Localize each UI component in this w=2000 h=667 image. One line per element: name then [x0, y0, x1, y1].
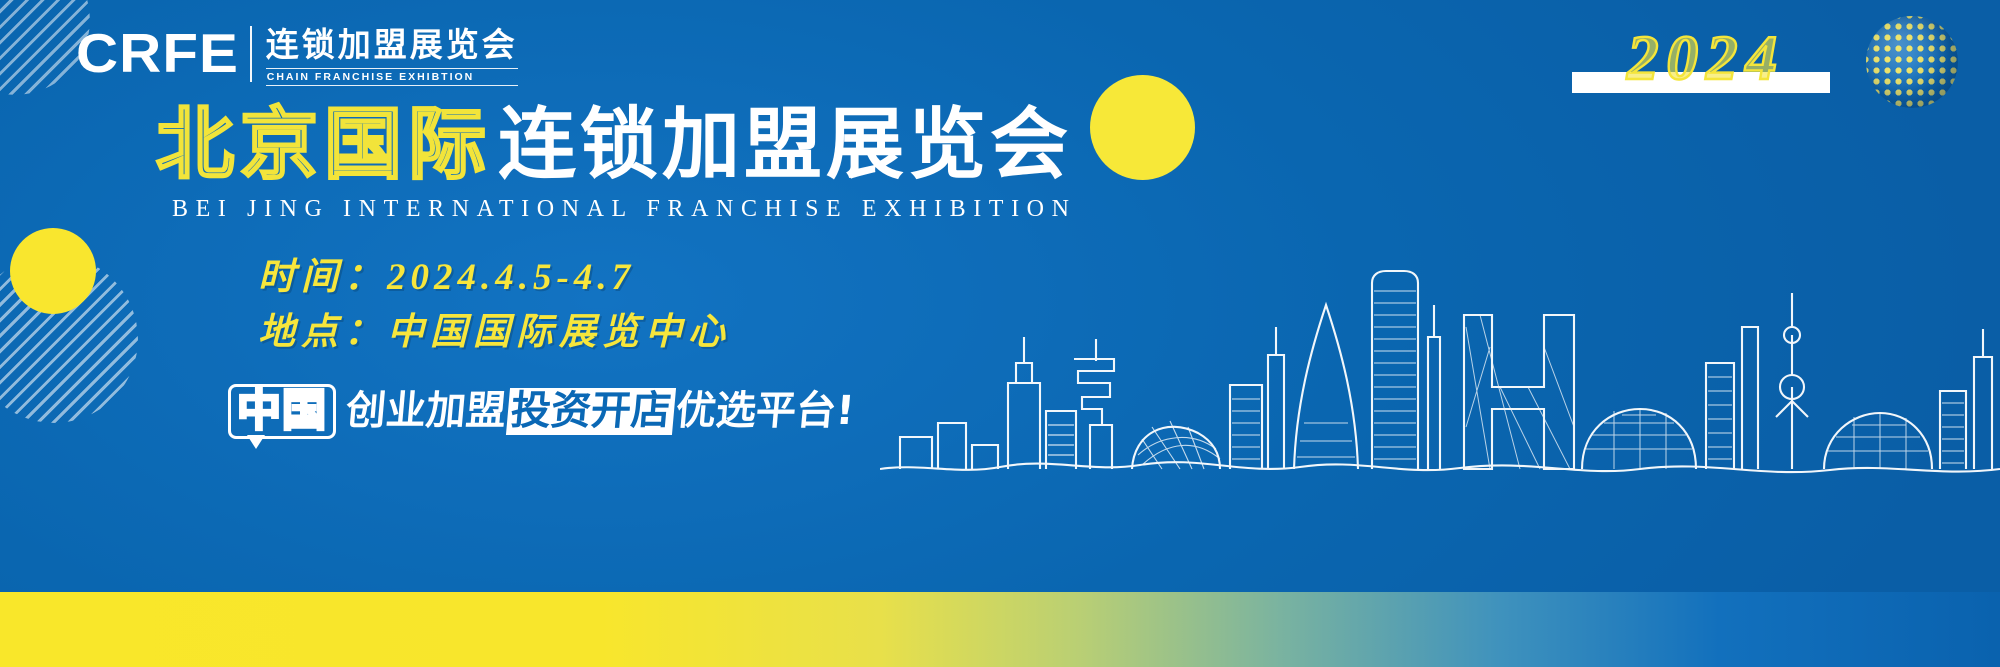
event-venue-label: 地点： — [258, 309, 387, 353]
tagline-part-3: 优选平台! — [674, 391, 856, 431]
event-venue-value: 中国国际展览中心 — [387, 309, 731, 353]
tagline-part-2: 投资开店 — [506, 388, 676, 435]
event-date-label: 时间： — [258, 254, 387, 298]
logo-acronym: CRFE — [76, 26, 239, 81]
bottom-gradient-bar — [0, 592, 2000, 667]
crfe-logo: CRFE 连锁加盟展览会 CHAIN FRANCHISE EXHIBTION — [76, 26, 518, 86]
year-label: 2024 — [1556, 25, 1856, 91]
logo-text-group: 连锁加盟展览会 CHAIN FRANCHISE EXHIBTION — [266, 26, 518, 86]
logo-chinese-name: 连锁加盟展览会 — [266, 26, 518, 64]
tagline-boxed-text: 中国 — [228, 384, 336, 439]
logo-divider — [250, 26, 252, 82]
event-date-line: 时间：2024.4.5-4.7 — [258, 250, 731, 305]
event-venue-line: 地点：中国国际展览中心 — [258, 305, 731, 360]
year-badge: 2024 — [1556, 25, 1856, 100]
tagline-part-1: 创业加盟 — [344, 391, 507, 431]
main-title: 北京国际 连锁加盟展览会 — [156, 106, 1072, 184]
yellow-circle-decor-small — [10, 228, 96, 314]
globe-icon — [1866, 16, 1958, 108]
title-english: BEI JING INTERNATIONAL FRANCHISE EXHIBIT… — [172, 196, 1077, 223]
title-main: 连锁加盟展览会 — [498, 106, 1072, 184]
title-highlight: 北京国际 — [156, 106, 492, 184]
logo-english-name: CHAIN FRANCHISE EXHIBTION — [266, 68, 518, 86]
yellow-circle-decor-large — [1090, 75, 1195, 180]
exhibition-banner: CRFE 连锁加盟展览会 CHAIN FRANCHISE EXHIBTION 2… — [0, 0, 2000, 667]
event-date-value: 2024.4.5-4.7 — [387, 257, 635, 298]
tagline: 中国 创业加盟 投资开店 优选平台! — [228, 384, 854, 439]
event-info: 时间：2024.4.5-4.7 地点：中国国际展览中心 — [258, 250, 731, 359]
